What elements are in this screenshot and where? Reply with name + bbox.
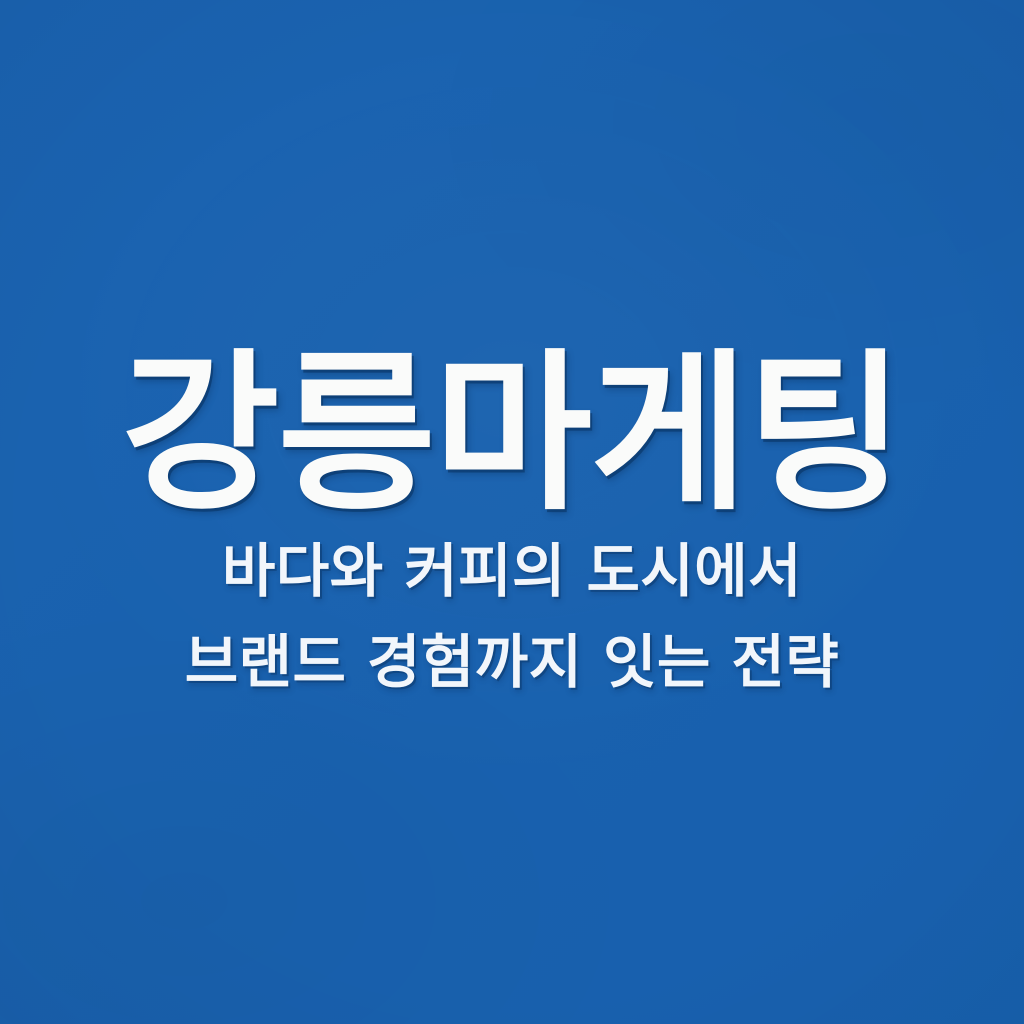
subtitle-line-2: 브랜드 경험까지 잇는 전략 (185, 633, 840, 691)
subtitle-group: 바다와 커피의 도시에서 브랜드 경험까지 잇는 전략 (185, 542, 840, 691)
poster-text-block: 강릉마게팅 바다와 커피의 도시에서 브랜드 경험까지 잇는 전략 (0, 348, 1024, 691)
page-title: 강릉마게팅 (121, 348, 902, 520)
poster-canvas: 강릉마게팅 바다와 커피의 도시에서 브랜드 경험까지 잇는 전략 (0, 0, 1024, 1024)
subtitle-line-1: 바다와 커피의 도시에서 (222, 542, 802, 600)
